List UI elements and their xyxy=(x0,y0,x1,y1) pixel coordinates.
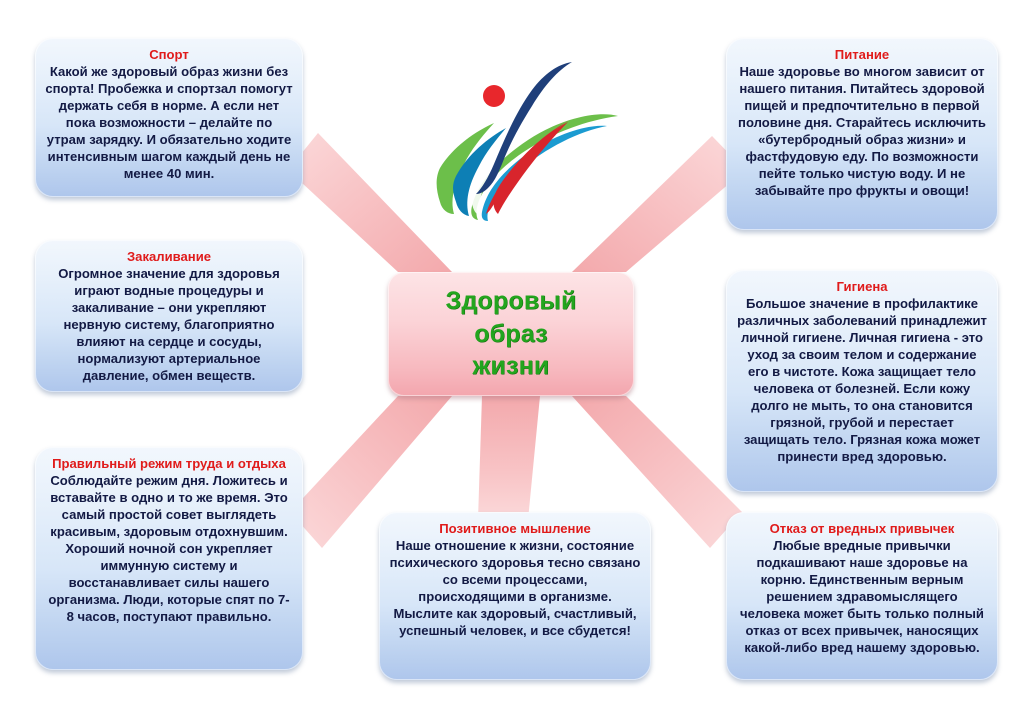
card-pozitivnoe-myshlenie: Позитивное мышление Наше отношение к жиз… xyxy=(379,512,651,680)
center-title-line-2: образ xyxy=(474,318,548,351)
logo-arm-swoosh-2 xyxy=(494,122,569,214)
center-title-line-3: жизни xyxy=(473,350,550,383)
card-otkaz-body: Любые вредные привычки подкашивают наше … xyxy=(740,538,984,655)
card-gigiena: Гигиена Большое значение в профилактике … xyxy=(726,270,998,492)
poster-canvas: Здоровый образ жизни Спорт Какой же здор… xyxy=(0,0,1024,724)
card-sport-body: Какой же здоровый образ жизни без спорта… xyxy=(45,64,292,181)
card-pitanie-body: Наше здоровье во многом зависит от нашег… xyxy=(738,64,986,198)
card-pitanie-title: Питание xyxy=(736,46,988,63)
ray-to-pozitivnoe xyxy=(478,396,540,520)
card-otkaz-ot-vrednyh-privychek: Отказ от вредных привычек Любые вредные … xyxy=(726,512,998,680)
card-gigiena-title: Гигиена xyxy=(736,278,988,295)
card-rezhim-title: Правильный режим труда и отдыха xyxy=(45,455,293,472)
card-sport: Спорт Какой же здоровый образ жизни без … xyxy=(35,38,303,197)
card-otkaz-title: Отказ от вредных привычек xyxy=(736,520,988,537)
card-zakalivanie-title: Закаливание xyxy=(45,248,293,265)
card-zakalivanie: Закаливание Огромное значение для здоров… xyxy=(35,240,303,392)
card-pitanie: Питание Наше здоровье во многом зависит … xyxy=(726,38,998,230)
logo-head-dot xyxy=(483,85,505,107)
card-pozitivnoe-body: Наше отношение к жизни, состояние психич… xyxy=(390,538,641,638)
healthy-lifestyle-logo xyxy=(418,48,624,232)
card-pozitivnoe-title: Позитивное мышление xyxy=(389,520,641,537)
card-zakalivanie-body: Огромное значение для здоровья играют во… xyxy=(58,266,280,383)
card-rezhim-truda-i-otdyha: Правильный режим труда и отдыха Соблюдай… xyxy=(35,447,303,670)
center-title-card: Здоровый образ жизни xyxy=(388,272,634,396)
card-sport-title: Спорт xyxy=(45,46,293,63)
card-gigiena-body: Большое значение в профилактике различны… xyxy=(737,296,987,464)
center-title-line-1: Здоровый xyxy=(445,285,576,318)
card-rezhim-body: Соблюдайте режим дня. Ложитесь и вставай… xyxy=(48,473,289,624)
